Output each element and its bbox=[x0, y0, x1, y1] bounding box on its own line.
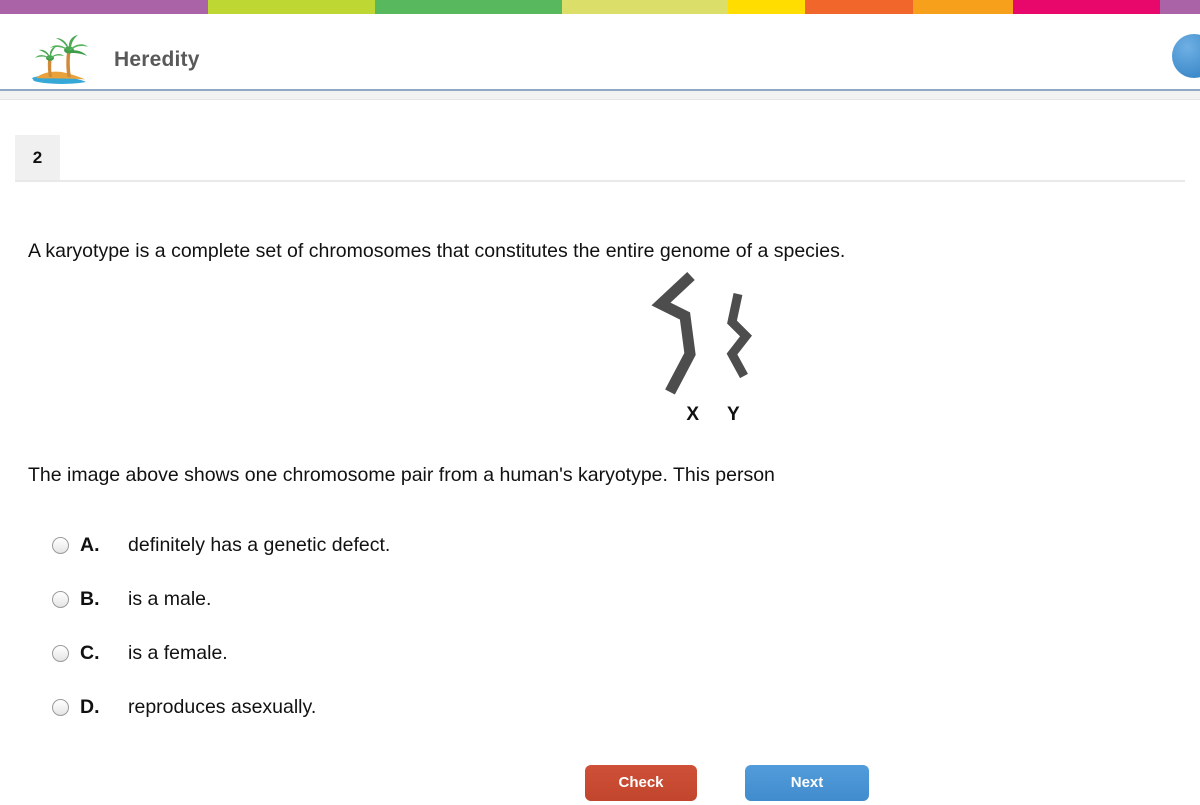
stripe-segment-green bbox=[375, 0, 562, 14]
radio-button-d[interactable] bbox=[52, 699, 69, 716]
option-text-c: is a female. bbox=[128, 642, 228, 665]
color-stripe bbox=[0, 0, 1200, 14]
option-letter-a: A. bbox=[80, 534, 118, 557]
question-number-strip bbox=[0, 100, 1200, 186]
y-chromosome-shape bbox=[732, 294, 746, 376]
option-text-b: is a male. bbox=[128, 588, 211, 611]
brand: Heredity bbox=[26, 34, 200, 86]
stripe-segment-lime bbox=[208, 0, 375, 14]
question-number-tab[interactable]: 2 bbox=[15, 135, 60, 180]
option-text-a: definitely has a genetic defect. bbox=[128, 534, 390, 557]
stripe-segment-purple bbox=[0, 0, 208, 14]
radio-button-c[interactable] bbox=[52, 645, 69, 662]
user-avatar-icon[interactable] bbox=[1172, 34, 1200, 78]
stripe-segment-yellow bbox=[728, 0, 805, 14]
chromosome-pair-figure: X Y bbox=[628, 264, 798, 434]
chromosome-label-x: X bbox=[686, 404, 699, 426]
stripe-segment-khaki bbox=[562, 0, 728, 14]
answer-option-b[interactable]: B. is a male. bbox=[52, 572, 952, 626]
chromosome-pair-image bbox=[628, 264, 798, 404]
stripe-segment-orange-red bbox=[805, 0, 913, 14]
stripe-segment-magenta bbox=[1013, 0, 1160, 14]
app-title: Heredity bbox=[114, 48, 200, 72]
answer-options-list: A. definitely has a genetic defect. B. i… bbox=[52, 518, 952, 734]
question-prompt: The image above shows one chromosome pai… bbox=[28, 464, 775, 487]
stripe-segment-orange bbox=[913, 0, 1013, 14]
stripe-segment-purple-end bbox=[1160, 0, 1200, 14]
radio-button-b[interactable] bbox=[52, 591, 69, 608]
option-letter-c: C. bbox=[80, 642, 118, 665]
question-stem: A karyotype is a complete set of chromos… bbox=[28, 240, 845, 263]
radio-button-a[interactable] bbox=[52, 537, 69, 554]
app-header: Heredity bbox=[0, 14, 1200, 91]
question-number-underline bbox=[15, 180, 1185, 182]
option-letter-b: B. bbox=[80, 588, 118, 611]
palm-tree-island-icon bbox=[26, 34, 92, 86]
action-bar: Check Next bbox=[0, 765, 1200, 805]
check-button[interactable]: Check bbox=[585, 765, 697, 801]
option-letter-d: D. bbox=[80, 696, 118, 719]
answer-option-d[interactable]: D. reproduces asexually. bbox=[52, 680, 952, 734]
answer-option-a[interactable]: A. definitely has a genetic defect. bbox=[52, 518, 952, 572]
answer-option-c[interactable]: C. is a female. bbox=[52, 626, 952, 680]
x-chromosome-shape bbox=[661, 276, 691, 392]
chromosome-labels: X Y bbox=[628, 404, 798, 426]
chromosome-label-y: Y bbox=[727, 404, 740, 426]
next-button[interactable]: Next bbox=[745, 765, 869, 801]
header-divider bbox=[0, 91, 1200, 100]
option-text-d: reproduces asexually. bbox=[128, 696, 316, 719]
